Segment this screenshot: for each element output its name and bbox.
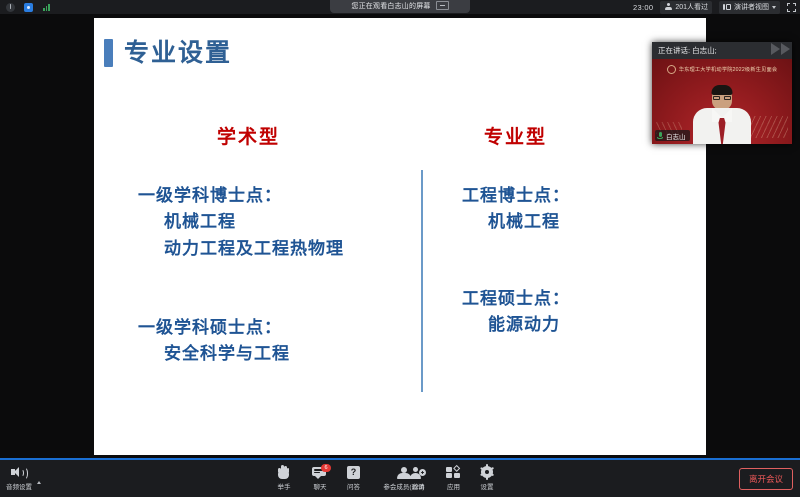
backdrop-banner-text: 华东理工大学机动学院2022级新生见面会 — [679, 66, 778, 73]
right-group-1: 工程硕士点： 能源动力 — [462, 286, 570, 339]
chat-bubble-icon: 6 — [312, 464, 328, 479]
viewers-icon — [664, 3, 672, 11]
speaker-video-header: 正在讲话: 白志山; — [652, 42, 792, 59]
view-mode-label: 演讲者视图 — [734, 2, 769, 12]
microphone-muted-icon[interactable] — [6, 3, 15, 12]
invite-person-icon — [410, 464, 426, 479]
speaking-now-label: 正在讲话: 白志山; — [658, 45, 717, 56]
viewers-chip[interactable]: 201人看过 — [660, 1, 712, 14]
right-group-1-label: 工程硕士点： — [462, 286, 570, 312]
left-group-1-label: 一级学科硕士点： — [138, 315, 290, 341]
bottom-toolbar: 音频设置 举手 6 聊天 ? 问答 — [0, 458, 800, 497]
invite-label: 邀请 — [412, 481, 425, 491]
top-bar: 您正在观看白志山的屏幕 23:00 201人看过 演讲者视图 — [0, 0, 800, 14]
top-bar-right: 23:00 201人看过 演讲者视图 — [633, 0, 796, 14]
chat-label: 聊天 — [314, 481, 327, 491]
apps-label: 应用 — [447, 481, 460, 491]
audio-settings-label: 音频设置 — [6, 481, 32, 491]
qa-button[interactable]: ? 问答 — [347, 464, 360, 491]
qa-label: 问答 — [347, 481, 360, 491]
audio-settings-caret-icon[interactable] — [37, 481, 41, 484]
speaker-figure — [690, 86, 754, 144]
left-group-0-item-1: 动力工程及工程热物理 — [138, 236, 344, 262]
participant-name-badge: 白志山 — [655, 130, 690, 141]
minimize-share-icon[interactable] — [436, 1, 449, 10]
column-divider — [421, 170, 423, 392]
view-mode-chip[interactable]: 演讲者视图 — [719, 1, 780, 14]
shared-screen-stage: 专业设置 学术型 专业型 一级学科博士点： 机械工程 动力工程及工程热物理 一级… — [0, 14, 800, 460]
leave-meeting-button[interactable]: 离开会议 — [739, 468, 793, 490]
raise-hand-button[interactable]: 举手 — [277, 464, 291, 491]
screen-share-notice-text: 您正在观看白志山的屏幕 — [351, 1, 430, 11]
meeting-window: 您正在观看白志山的屏幕 23:00 201人看过 演讲者视图 专业设置 学术 — [0, 0, 800, 497]
apps-grid-icon — [446, 464, 461, 479]
right-column-heading: 专业型 — [484, 122, 547, 149]
left-group-1-item-0: 安全科学与工程 — [138, 341, 290, 367]
settings-label: 设置 — [481, 481, 494, 491]
apps-button[interactable]: 应用 — [446, 464, 461, 491]
speaker-icon — [11, 464, 27, 479]
left-group-0-label: 一级学科博士点： — [138, 183, 344, 209]
viewers-label: 201人看过 — [675, 2, 708, 12]
backdrop-banner: 华东理工大学机动学院2022级新生见面会 — [652, 65, 792, 74]
right-group-0: 工程博士点： 机械工程 — [462, 183, 570, 236]
audio-settings-button[interactable]: 音频设置 — [6, 464, 32, 491]
double-chevron-right-icon[interactable] — [771, 43, 790, 55]
university-seal-icon — [667, 65, 676, 74]
presentation-slide: 专业设置 学术型 专业型 一级学科博士点： 机械工程 动力工程及工程热物理 一级… — [94, 18, 706, 455]
right-group-0-item-0: 机械工程 — [462, 209, 570, 235]
expand-icon[interactable] — [787, 3, 796, 12]
security-shield-icon[interactable] — [24, 3, 33, 12]
raise-hand-icon — [277, 464, 291, 479]
right-group-1-item-0: 能源动力 — [462, 312, 570, 338]
layout-icon — [723, 3, 731, 11]
chat-button[interactable]: 6 聊天 — [312, 464, 328, 491]
microphone-active-icon — [657, 132, 664, 140]
invite-button[interactable]: 邀请 — [410, 464, 426, 491]
gear-icon — [480, 464, 494, 479]
screen-share-notice-pill[interactable]: 您正在观看白志山的屏幕 — [330, 0, 470, 13]
speaker-video-feed: 华东理工大学机动学院2022级新生见面会 白志山 — [652, 59, 792, 144]
left-group-0-item-0: 机械工程 — [138, 209, 344, 235]
top-bar-left-icons — [0, 3, 51, 12]
right-group-0-label: 工程博士点： — [462, 183, 570, 209]
page-title: 专业设置 — [124, 41, 232, 66]
left-group-1: 一级学科硕士点： 安全科学与工程 — [138, 315, 290, 368]
slide-title-group: 专业设置 — [104, 39, 232, 67]
qa-icon: ? — [347, 464, 360, 479]
network-signal-icon[interactable] — [42, 3, 51, 12]
chat-unread-badge: 6 — [321, 464, 331, 472]
title-accent-bar — [104, 39, 113, 67]
chevron-down-icon — [772, 6, 776, 9]
meeting-clock: 23:00 — [633, 3, 653, 12]
participants-button[interactable]: 参会成员(123) — [370, 464, 438, 491]
settings-button[interactable]: 设置 — [480, 464, 494, 491]
left-column-heading: 学术型 — [217, 122, 280, 149]
speaker-video-tile[interactable]: 正在讲话: 白志山; 华东理工大学机动学院2022级新生见面会 — [652, 42, 792, 144]
raise-hand-label: 举手 — [278, 481, 291, 491]
left-group-0: 一级学科博士点： 机械工程 动力工程及工程热物理 — [138, 183, 344, 262]
participant-name-label: 白志山 — [666, 131, 686, 141]
